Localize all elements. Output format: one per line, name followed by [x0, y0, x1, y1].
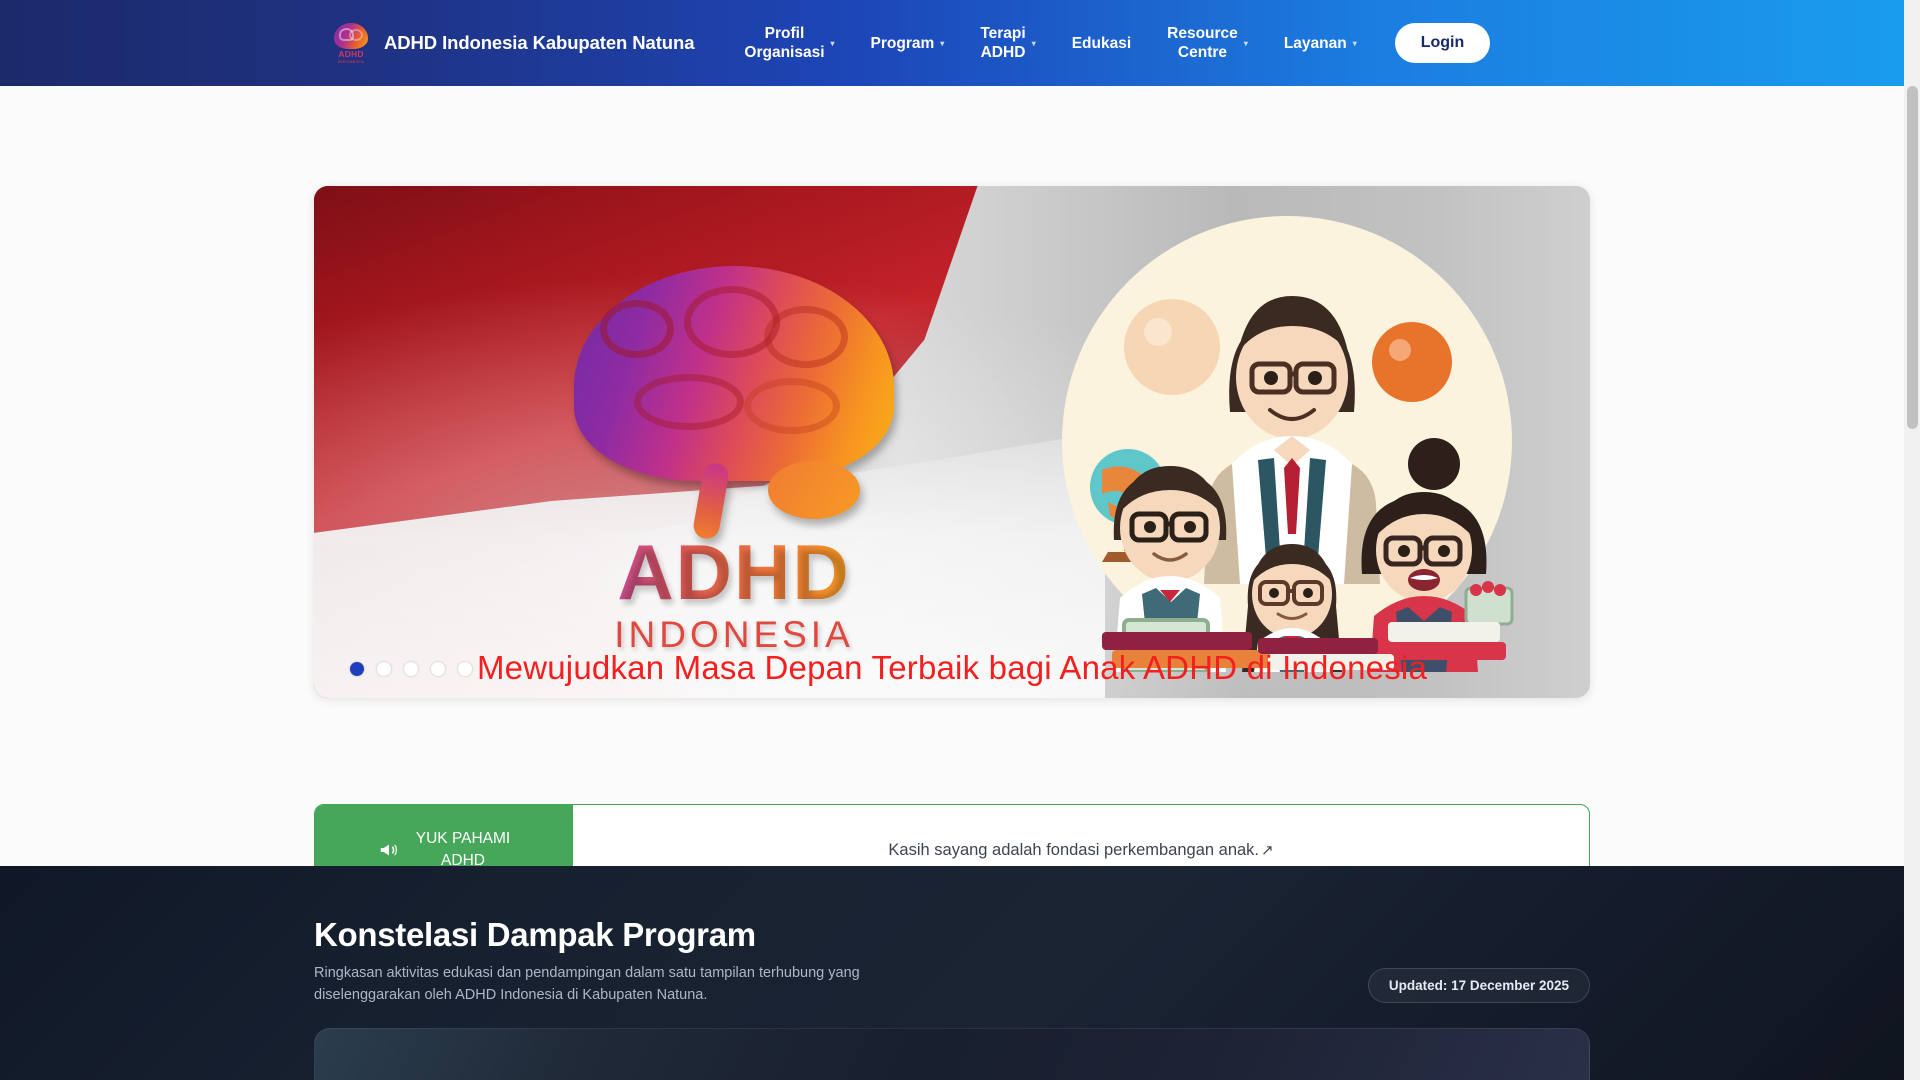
carousel-dot-3[interactable]	[404, 662, 418, 676]
impact-section-description: Ringkasan aktivitas edukasi dan pendampi…	[314, 962, 954, 1006]
nav-label-profil-organisasi: Profil Organisasi	[744, 24, 824, 62]
carousel-dot-5[interactable]	[458, 662, 472, 676]
nav-item-profil-organisasi[interactable]: Profil Organisasi ▾	[726, 24, 852, 62]
megaphone-icon	[378, 839, 400, 861]
primary-nav: Profil Organisasi ▾ Program ▾ Terapi ADH…	[726, 23, 1490, 63]
brain-fold	[600, 300, 674, 358]
impact-constellation-card[interactable]	[314, 1028, 1590, 1080]
ticker-tag-line1: YUK PAHAMI	[416, 830, 510, 847]
brand-logo-link[interactable]: ADHD INDONESIA ADHD Indonesia Kabupaten …	[330, 20, 694, 66]
hero-caption: Mewujudkan Masa Depan Terbaik bagi Anak …	[314, 648, 1590, 688]
brain-shape-icon	[334, 23, 368, 49]
chevron-down-icon[interactable]: ▾	[1032, 40, 1036, 48]
login-button[interactable]: Login	[1395, 23, 1491, 63]
nav-label-line1: Resource	[1167, 25, 1238, 42]
logo-subwordmark: INDONESIA	[338, 59, 365, 64]
updated-badge: Updated: 17 December 2025	[1368, 968, 1590, 1003]
brain-fold	[764, 306, 848, 368]
ticker-message-text: Kasih sayang adalah fondasi perkembangan…	[888, 841, 1259, 860]
brand-title: ADHD Indonesia Kabupaten Natuna	[384, 32, 694, 54]
nav-item-edukasi[interactable]: Edukasi	[1054, 34, 1149, 53]
nav-label-line2: ADHD	[981, 44, 1026, 61]
nav-label-resource-centre: Resource Centre	[1167, 24, 1238, 62]
nav-label-program: Program	[871, 34, 935, 53]
main-navbar: ADHD INDONESIA ADHD Indonesia Kabupaten …	[0, 0, 1904, 86]
brain-fold	[744, 378, 840, 434]
adhd-brain-logo-icon: ADHD INDONESIA	[330, 20, 372, 66]
chevron-down-icon[interactable]: ▾	[1244, 40, 1248, 48]
logo-wordmark: ADHD	[338, 50, 363, 59]
hero-logo-wordmark: ADHD	[617, 533, 850, 611]
hero-adhd-logo: ADHD INDONESIA	[569, 266, 899, 666]
nav-label-line1: Terapi	[980, 25, 1025, 42]
carousel-dot-2[interactable]	[377, 662, 391, 676]
page-content: ADHD INDONESIA	[0, 86, 1904, 866]
nav-label-line1: Profil	[765, 25, 805, 42]
navbar-inner: ADHD INDONESIA ADHD Indonesia Kabupaten …	[330, 20, 1490, 66]
carousel-dots[interactable]	[350, 662, 472, 676]
chevron-down-icon[interactable]: ▾	[1353, 40, 1357, 48]
hero-brain-icon	[574, 266, 894, 481]
nav-item-terapi-adhd[interactable]: Terapi ADHD ▾	[962, 24, 1053, 62]
nav-item-layanan[interactable]: Layanan ▾	[1266, 34, 1375, 53]
brain-lobe	[768, 461, 860, 519]
chevron-down-icon[interactable]: ▾	[940, 40, 944, 48]
nav-item-resource-centre[interactable]: Resource Centre ▾	[1149, 24, 1266, 62]
chevron-down-icon[interactable]: ▾	[831, 40, 835, 48]
family-illustration-svg	[1062, 202, 1522, 672]
carousel-dot-1[interactable]	[350, 662, 364, 676]
brain-fold	[634, 374, 744, 430]
impact-section-title: Konstelasi Dampak Program	[314, 916, 756, 954]
page-scrollbar-thumb[interactable]	[1907, 86, 1918, 429]
external-arrow-icon: ↗	[1261, 841, 1274, 859]
nav-label-line2: Organisasi	[744, 44, 824, 61]
carousel-dot-4[interactable]	[431, 662, 445, 676]
nav-item-program[interactable]: Program ▾	[853, 34, 963, 53]
hero-carousel[interactable]: ADHD INDONESIA	[314, 186, 1590, 698]
nav-label-layanan: Layanan	[1284, 34, 1347, 53]
nav-label-line2: Centre	[1178, 44, 1227, 61]
nav-label-terapi-adhd: Terapi ADHD	[980, 24, 1025, 62]
hero-family-illustration	[1062, 202, 1522, 672]
nav-label-edukasi: Edukasi	[1072, 34, 1131, 53]
